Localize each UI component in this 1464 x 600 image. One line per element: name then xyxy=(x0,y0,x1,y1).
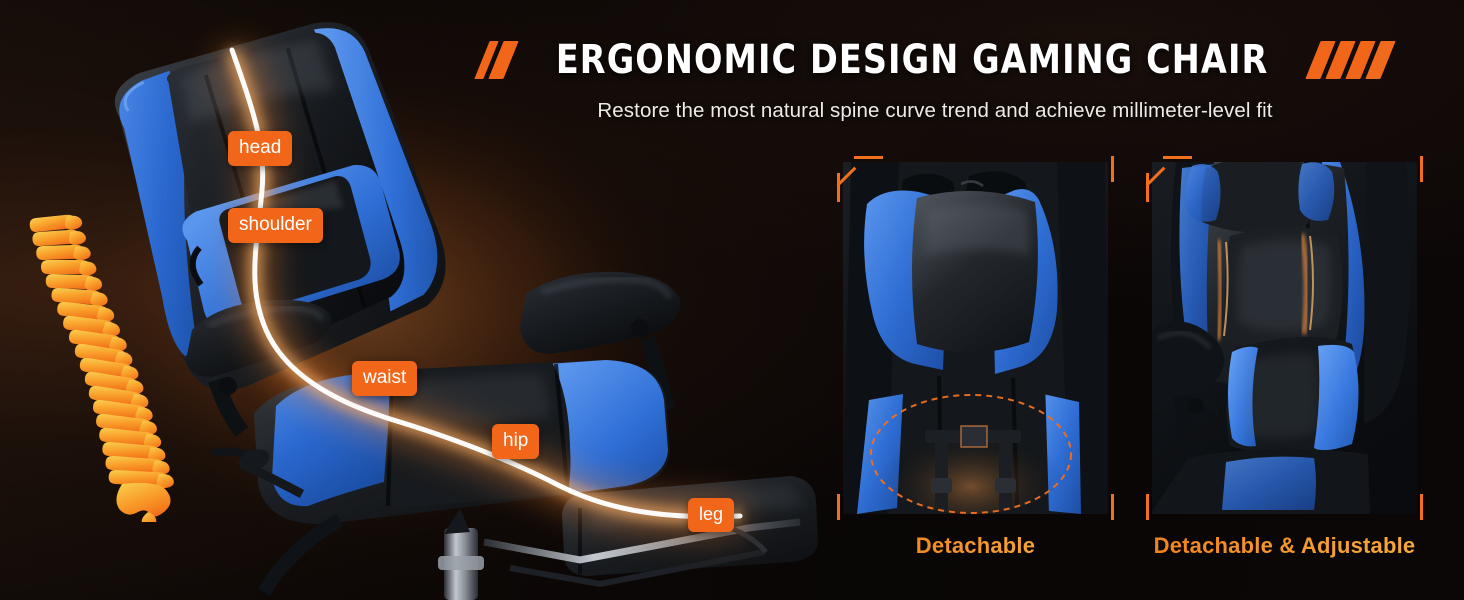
page-title: ERGONOMIC DESIGN GAMING CHAIR xyxy=(556,37,1269,83)
panel-caption-detachable: Detachable xyxy=(843,533,1108,559)
body-label-waist: waist xyxy=(352,361,417,396)
feature-panel-headrest xyxy=(843,162,1108,514)
banner-header: ERGONOMIC DESIGN GAMING CHAIR Restore th… xyxy=(430,34,1440,144)
lumbar-closeup-photo xyxy=(1152,162,1417,514)
right-stripes-decoration xyxy=(1313,41,1388,79)
body-label-head: head xyxy=(228,131,292,166)
feature-panel-lumbar xyxy=(1152,162,1417,514)
body-label-shoulder: shoulder xyxy=(228,208,323,243)
left-stripes-decoration xyxy=(482,41,511,79)
page-subtitle: Restore the most natural spine curve tre… xyxy=(430,99,1440,123)
body-label-leg: leg xyxy=(688,498,734,532)
headrest-closeup-photo xyxy=(843,162,1108,514)
title-row: ERGONOMIC DESIGN GAMING CHAIR xyxy=(430,34,1440,86)
body-label-hip: hip xyxy=(492,424,539,459)
spine-icon xyxy=(22,212,197,522)
panel-caption-detachable-adjustable: Detachable & Adjustable xyxy=(1097,533,1464,559)
product-banner: head shoulder waist hip leg ERGONOMIC DE… xyxy=(0,0,1464,600)
